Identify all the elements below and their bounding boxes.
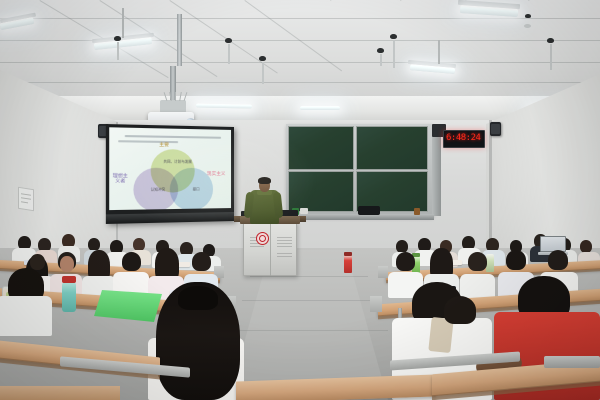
projector-pole: [177, 14, 182, 66]
student-hair: [548, 250, 568, 270]
bench-back-far-right: [544, 356, 600, 368]
student-hair-mid: [444, 296, 476, 324]
desk-foreground-edge: [0, 386, 120, 400]
desk-end-cap: [370, 296, 382, 312]
laptop-screen[interactable]: [540, 236, 566, 252]
light-stem-1: [122, 8, 124, 38]
venn-intersection-label-3: 接口: [193, 187, 200, 191]
blackboard-side-panel: [432, 126, 441, 216]
student-head: [30, 254, 45, 270]
blackboard: No. 1-3 Von end: [286, 124, 432, 216]
eraser: [300, 208, 308, 214]
venn-label-right: 现实主义: [207, 172, 225, 177]
podium[interactable]: [243, 222, 297, 276]
water-bottle-red: [344, 255, 352, 273]
student-head-near-left: [178, 286, 218, 310]
led-display-text: 6:48:24: [446, 133, 480, 144]
ceiling-speaker-1: [114, 36, 121, 41]
student-head: [60, 256, 74, 272]
student-hair: [468, 252, 487, 271]
smoke-detector-base: [524, 24, 531, 28]
water-bottle: [486, 254, 494, 272]
ceiling-light-7: [300, 106, 340, 110]
blackboard-tray-item: [358, 206, 380, 215]
student-hair: [192, 252, 211, 271]
thermos-bottle: [62, 282, 76, 312]
smoke-detector: [525, 14, 531, 18]
ceiling-speaker-5: [377, 48, 384, 53]
right-wall-edge: [489, 120, 492, 250]
student-hair: [396, 252, 415, 271]
projection-screen[interactable]: 主要 理想主义者 现实主义 共同、计划与发展 认知冲突 接口: [106, 124, 234, 224]
university-emblem-inner: [259, 235, 266, 242]
ceiling-speaker-4: [390, 34, 397, 39]
thermos-cap: [62, 276, 76, 283]
student-torso-near: [0, 296, 52, 336]
venn-label-left: 理想主义者: [113, 174, 128, 185]
led-display: 6:48:24: [443, 130, 485, 148]
lecturer-hair: [258, 177, 271, 184]
right-wall-speaker: [490, 122, 501, 136]
student-hair: [506, 250, 526, 270]
venn-label-top: 主要: [159, 143, 169, 148]
tray-marker: [414, 208, 420, 215]
student-torso: [460, 274, 495, 299]
venn-intersection-label-2: 认知冲突: [151, 187, 165, 191]
ceiling-speaker-3: [259, 56, 266, 61]
light-stem-3: [438, 40, 440, 64]
classroom-photo: 主要 理想主义者 现实主义 共同、计划与发展 认知冲突 接口 No. 1-3 V…: [0, 0, 600, 400]
desk-end-cap: [378, 266, 388, 278]
venn-intersection-label-1: 共同、计划与发展: [163, 160, 191, 164]
slide-heading-line-1: [125, 135, 221, 138]
ceiling-speaker-6: [547, 38, 554, 43]
projection-screen-surface: 主要 理想主义者 现实主义 共同、计划与发展 认知冲突 接口: [109, 127, 231, 210]
bottle-cap: [344, 252, 352, 256]
wall-notice: [18, 187, 34, 212]
ceiling-speaker-2: [225, 38, 232, 43]
slide-heading-line-2: [118, 140, 178, 143]
student-hair: [122, 252, 141, 271]
